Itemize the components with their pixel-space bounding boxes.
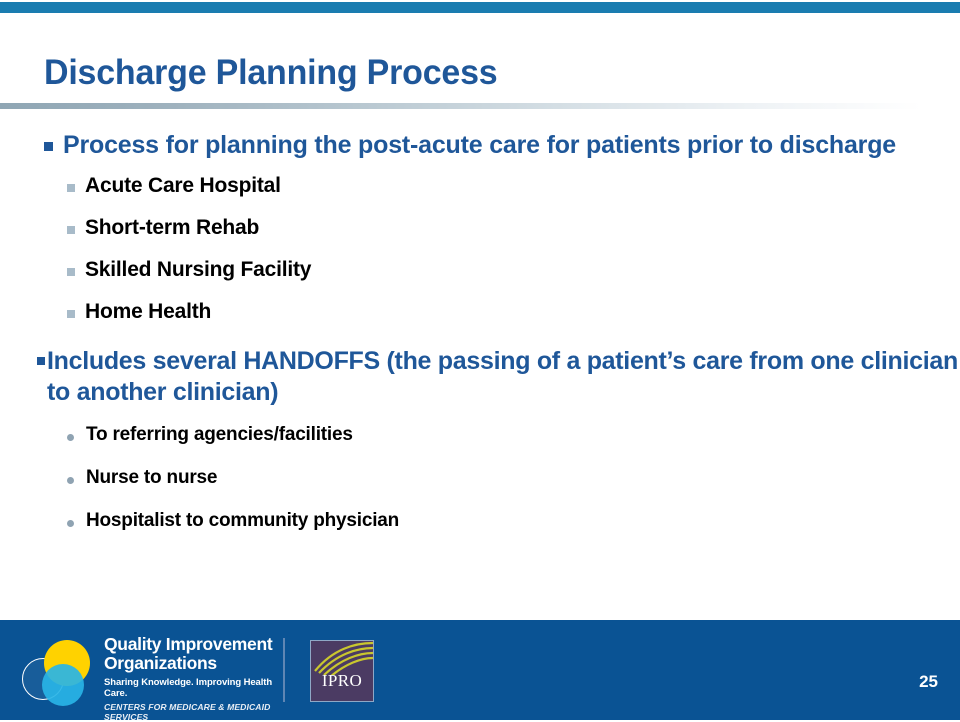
qio-tagline: Sharing Knowledge. Improving Health Care… [104,677,274,699]
ipro-logo: IPRO [310,640,374,702]
dot-bullet-icon [67,520,74,527]
bullet-item-tertiary-3: Hospitalist to community physician [0,511,960,530]
ipro-label: IPRO [311,671,373,691]
bullet-label: Nurse to nurse [86,467,217,488]
logo-divider [283,638,285,702]
qio-line-1: Quality Improvement [104,636,274,654]
qio-logo: Quality Improvement Organizations Sharin… [22,636,272,708]
bullet-label: Short-term Rehab [85,216,259,239]
square-bullet-icon [44,142,53,151]
square-bullet-icon [67,310,75,318]
qio-line-2: Organizations [104,655,274,673]
square-bullet-icon [67,226,75,234]
square-bullet-icon [67,268,75,276]
bullet-label: Acute Care Hospital [85,174,281,197]
square-bullet-icon [37,357,45,365]
dot-bullet-icon [67,434,74,441]
bullet-item-secondary-4: Home Health [0,301,960,322]
bullet-label: Includes several HANDOFFS (the passing o… [47,347,958,406]
circle-cyan [42,664,84,706]
bullet-item-secondary-3: Skilled Nursing Facility [0,259,960,280]
bullet-label: Process for planning the post-acute care… [63,131,896,159]
bullet-label: Hospitalist to community physician [86,510,399,531]
ipro-arcs-icon [311,641,373,675]
slide-content: Process for planning the post-acute care… [0,130,960,530]
bullet-item-secondary-1: Acute Care Hospital [0,175,960,196]
top-accent-bar [0,2,960,13]
qio-logo-text: Quality Improvement Organizations Sharin… [104,636,274,722]
bullet-label: Skilled Nursing Facility [85,258,311,281]
bullet-label: To referring agencies/facilities [86,424,353,445]
slide: Discharge Planning Process Process for p… [0,0,960,720]
bullet-item-tertiary-2: Nurse to nurse [0,468,960,487]
bullet-item-primary-1: Process for planning the post-acute care… [0,130,960,161]
title-divider [0,103,960,109]
bullet-label: Home Health [85,300,211,323]
page-title: Discharge Planning Process [44,53,497,93]
page-number: 25 [919,672,938,692]
qio-circles-icon [22,640,100,706]
bullet-item-tertiary-1: To referring agencies/facilities [0,425,960,444]
dot-bullet-icon [67,477,74,484]
bullet-item-primary-2: Includes several HANDOFFS (the passing o… [0,346,960,408]
square-bullet-icon [67,184,75,192]
bullet-item-secondary-2: Short-term Rehab [0,217,960,238]
qio-cms-line: CENTERS FOR MEDICARE & MEDICAID SERVICES [104,702,274,722]
